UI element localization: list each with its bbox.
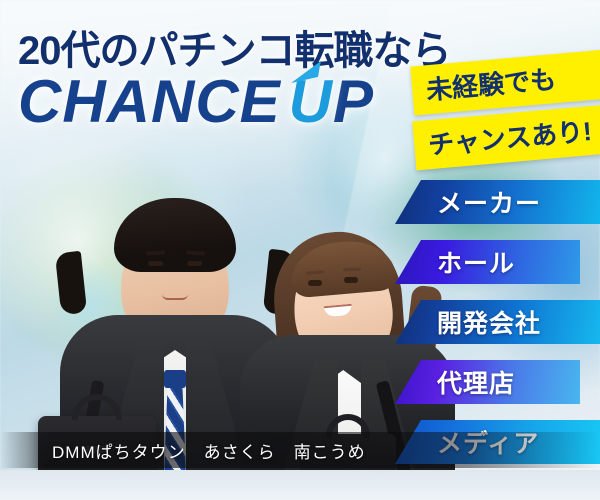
brand-logo-up-mark: U: [289, 68, 333, 135]
tag-agency[interactable]: 代理店: [395, 360, 580, 404]
tag-hall[interactable]: ホール: [395, 240, 580, 284]
tag-hall-label: ホール: [437, 244, 515, 280]
tag-developer-label: 開発会社: [437, 304, 541, 340]
male-eye: [187, 261, 202, 266]
brand-logo-p: P: [333, 68, 374, 135]
tag-developer[interactable]: 開発会社: [395, 300, 600, 344]
brand-logo-chance: CHANCE: [18, 68, 281, 135]
tag-maker-label: メーカー: [437, 184, 541, 220]
tag-agency-label: 代理店: [437, 364, 515, 400]
background-floor: [0, 470, 600, 500]
badge-chance: チャンスあり!: [412, 105, 600, 171]
caption-text: DMMぱちタウン あさくら 南こうめ: [0, 438, 366, 463]
recruitment-banner[interactable]: 20代のパチンコ転職なら CHANCEUP 未経験でも チャンスあり! メーカー…: [0, 0, 600, 500]
male-hair-side: [55, 251, 87, 315]
male-hair: [114, 198, 236, 272]
brand-logo: CHANCEUP: [18, 72, 374, 132]
category-tag-list: メーカー ホール 開発会社 代理店 メディア: [395, 180, 600, 464]
badge-inexperienced: 未経験でも: [410, 50, 600, 116]
female-eye: [308, 280, 322, 286]
male-mouth: [162, 294, 188, 300]
caption-bar: DMMぱちタウン あさくら 南こうめ: [0, 432, 600, 468]
highlight-badge-group: 未経験でも チャンスあり!: [412, 58, 600, 162]
female-eye: [344, 277, 358, 283]
male-tie-knot: [164, 370, 186, 388]
male-eye: [148, 261, 163, 266]
tag-maker[interactable]: メーカー: [395, 180, 600, 224]
